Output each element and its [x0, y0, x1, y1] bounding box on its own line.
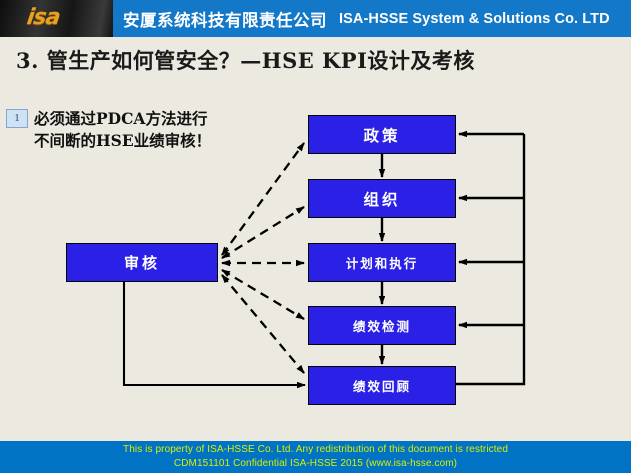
node-organization-label: 组织 [363, 188, 400, 210]
node-plan-and-execute[interactable]: 计划和执行 [308, 243, 456, 282]
logo-container: isa [0, 0, 113, 37]
header-banner: 安厦系统科技有限责任公司 ISA-HSSE System & Solutions… [113, 0, 631, 37]
slide-header: isa 安厦系统科技有限责任公司 ISA-HSSE System & Solut… [0, 0, 631, 37]
node-policy-label: 政策 [363, 124, 400, 146]
footer-document-id-line: CDM151101 Confidential ISA-HSSE 2015 (ww… [0, 457, 631, 471]
slide-canvas: isa 安厦系统科技有限责任公司 ISA-HSSE System & Solut… [0, 0, 631, 473]
node-performance-review[interactable]: 绩效回顾 [308, 366, 456, 405]
isa-logo-icon: isa [25, 5, 61, 30]
slide-footer: This is property of ISA-HSSE Co. Ltd. An… [0, 441, 631, 473]
node-organization[interactable]: 组织 [308, 179, 456, 218]
node-performance-measurement[interactable]: 绩效检测 [308, 306, 456, 345]
node-audit-label: 审核 [124, 252, 160, 273]
page-title: 3. 管生产如何管安全？—HSE KPI设计及考核 [16, 45, 475, 75]
node-plan-and-execute-label: 计划和执行 [346, 253, 419, 272]
company-name-en: ISA-HSSE System & Solutions Co. LTD [339, 11, 610, 27]
footer-copyright-line: This is property of ISA-HSSE Co. Ltd. An… [0, 443, 631, 457]
node-audit[interactable]: 审核 [66, 243, 218, 282]
node-policy[interactable]: 政策 [308, 115, 456, 154]
node-performance-measurement-label: 绩效检测 [353, 316, 411, 335]
company-name-cn: 安厦系统科技有限责任公司 [123, 7, 327, 31]
pdca-flowchart: 政策 组织 计划和执行 绩效检测 绩效回顾 审核 [0, 95, 631, 425]
node-performance-review-label: 绩效回顾 [353, 376, 411, 395]
